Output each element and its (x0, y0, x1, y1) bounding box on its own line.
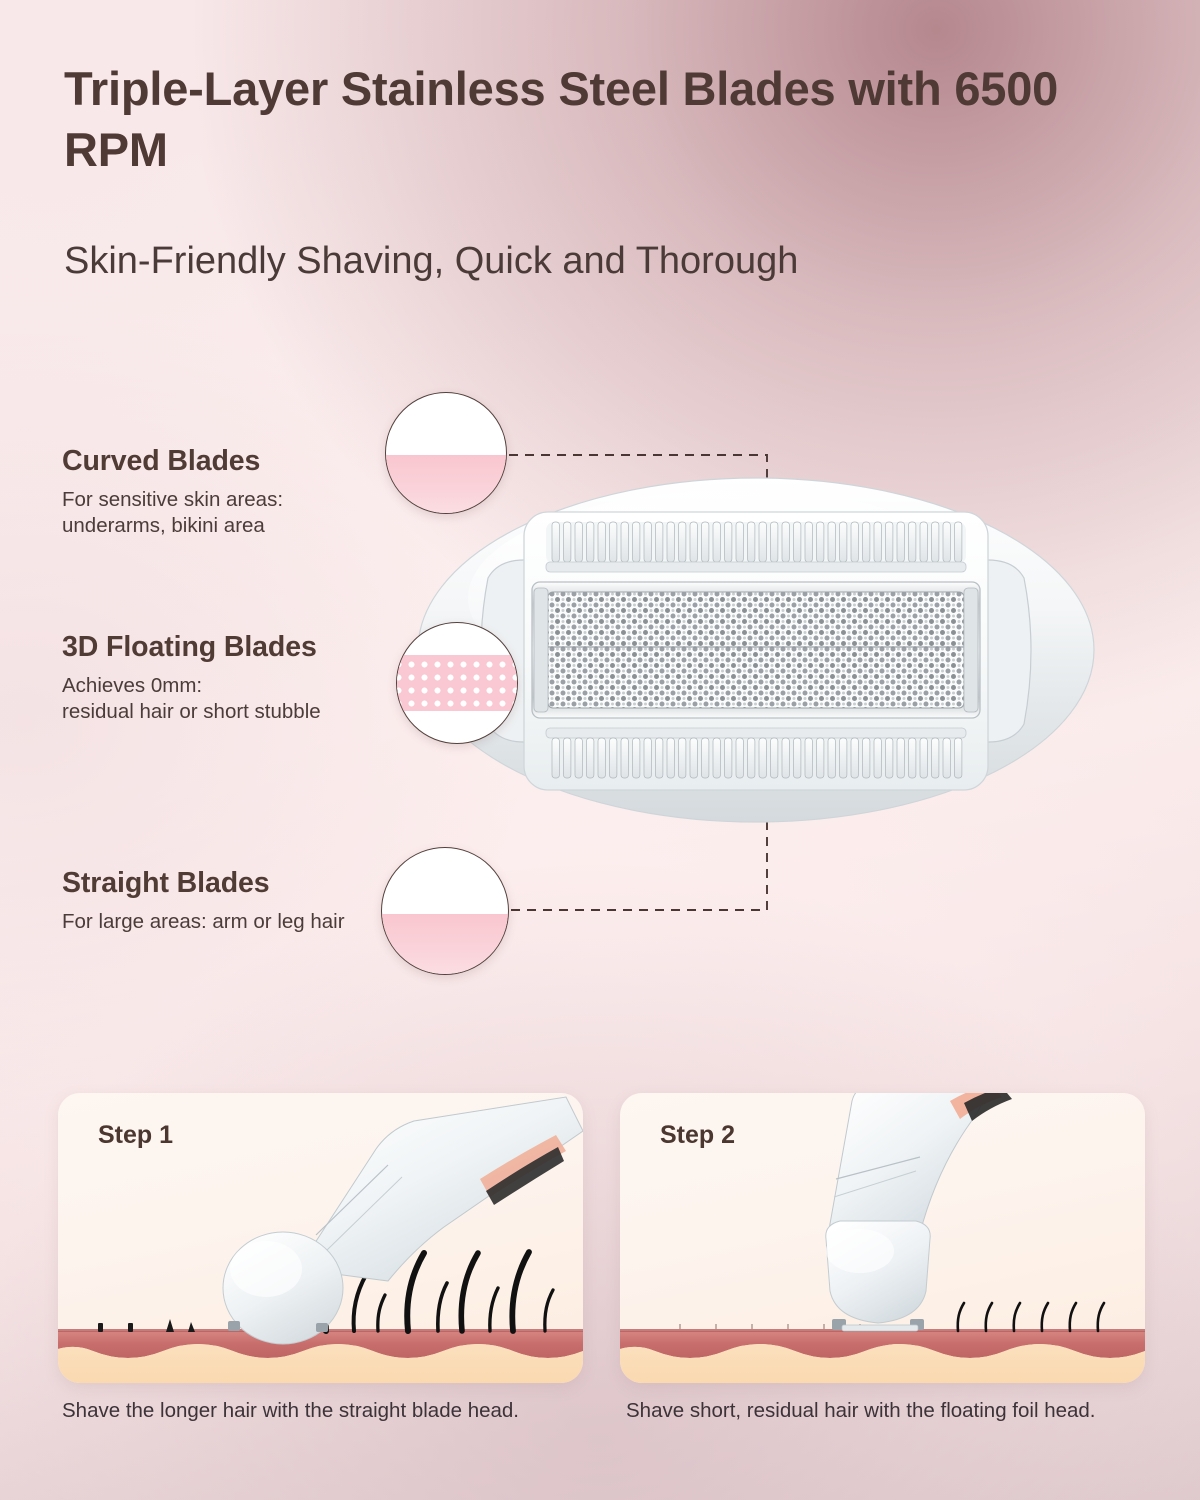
step-2-card: Step 2 (620, 1093, 1145, 1383)
feature-description: For sensitive skin areas: underarms, bik… (62, 487, 392, 540)
step-1-caption: Shave the longer hair with the straight … (62, 1398, 519, 1424)
foil-window (532, 582, 980, 718)
feature-title: 3D Floating Blades (62, 630, 392, 665)
comb-teeth-icon (381, 847, 509, 975)
upper-comb (546, 522, 966, 572)
feature-description: Achieves 0mm: residual hair or short stu… (62, 673, 392, 726)
feature-curved-blades: Curved Blades For sensitive skin areas: … (62, 444, 392, 540)
comb-teeth-icon (385, 392, 507, 514)
step-label: Step 2 (660, 1121, 735, 1150)
perforated-foil-icon (396, 622, 518, 744)
feature-title: Straight Blades (62, 866, 422, 901)
step-label: Step 1 (98, 1121, 173, 1150)
feature-3d-floating-blades: 3D Floating Blades Achieves 0mm: residua… (62, 630, 392, 726)
feature-straight-blades: Straight Blades For large areas: arm or … (62, 866, 422, 935)
feature-title: Curved Blades (62, 444, 392, 479)
feature-description: For large areas: arm or leg hair (62, 909, 422, 936)
step-2-caption: Shave short, residual hair with the floa… (626, 1398, 1096, 1424)
step-1-card: Step 1 (58, 1093, 583, 1383)
